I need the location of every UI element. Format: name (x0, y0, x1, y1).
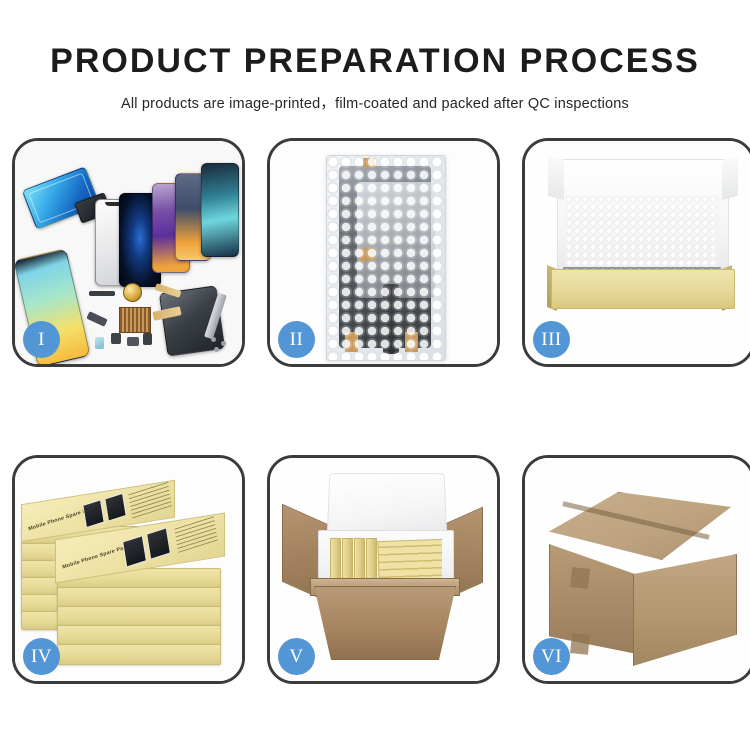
tape-icon (570, 633, 590, 655)
box-layer (57, 587, 221, 608)
screws-icon (211, 337, 235, 353)
box-spec-lines (174, 515, 218, 553)
page-header: PRODUCT PREPARATION PROCESS All products… (0, 0, 750, 113)
tape-icon (570, 567, 590, 589)
foam-sheet-icon (565, 195, 719, 267)
step-badge-5: V (278, 638, 315, 675)
step-badge-3: III (533, 321, 570, 358)
process-step-4[interactable]: Mobile Phone Spare Parts Mobile Phone Sp… (12, 455, 245, 684)
process-step-6[interactable]: VI (522, 455, 750, 684)
flex-cable-icon (152, 306, 181, 321)
process-step-5[interactable]: V (267, 455, 500, 684)
page-title: PRODUCT PREPARATION PROCESS (0, 0, 750, 81)
process-step-3[interactable]: III (522, 138, 750, 367)
box-label-text: Mobile Phone Spare Parts (62, 543, 131, 570)
phone-teal-icon (201, 163, 239, 257)
bracket-icon (86, 311, 108, 327)
process-step-1[interactable]: I (12, 138, 245, 367)
bubble-wrap-bag-icon (326, 155, 446, 361)
step-badge-1: I (23, 321, 60, 358)
box-layer (57, 606, 221, 627)
step-badge-4: IV (23, 638, 60, 675)
sim-tray-icon (95, 337, 104, 349)
process-step-grid: I II (12, 138, 740, 684)
earpiece-mesh-icon (89, 291, 115, 296)
box-layer (57, 644, 221, 665)
camera-module-icon (127, 337, 139, 346)
chip-grid-icon (119, 307, 151, 333)
box-spec-lines (128, 481, 172, 519)
screen-photo-icon (146, 527, 171, 560)
process-step-2[interactable]: II (267, 138, 500, 367)
box-layer (57, 625, 221, 646)
small-parts-cluster (87, 281, 197, 359)
speaker-coil-icon (123, 283, 142, 302)
screen-photo-icon (104, 493, 127, 522)
step-badge-2: II (278, 321, 315, 358)
screen-photo-icon (82, 499, 105, 528)
carton-body-icon (314, 586, 456, 660)
screen-photo-icon (122, 535, 147, 568)
yellow-box-tray-icon (551, 269, 735, 309)
step-badge-6: VI (533, 638, 570, 675)
page-subtitle: All products are image-printed，film-coat… (0, 81, 750, 113)
vibrator-icon (143, 333, 152, 345)
flex-cable-icon (155, 283, 182, 298)
connector-icon (111, 333, 121, 344)
bubble-texture-overlay (327, 156, 445, 360)
